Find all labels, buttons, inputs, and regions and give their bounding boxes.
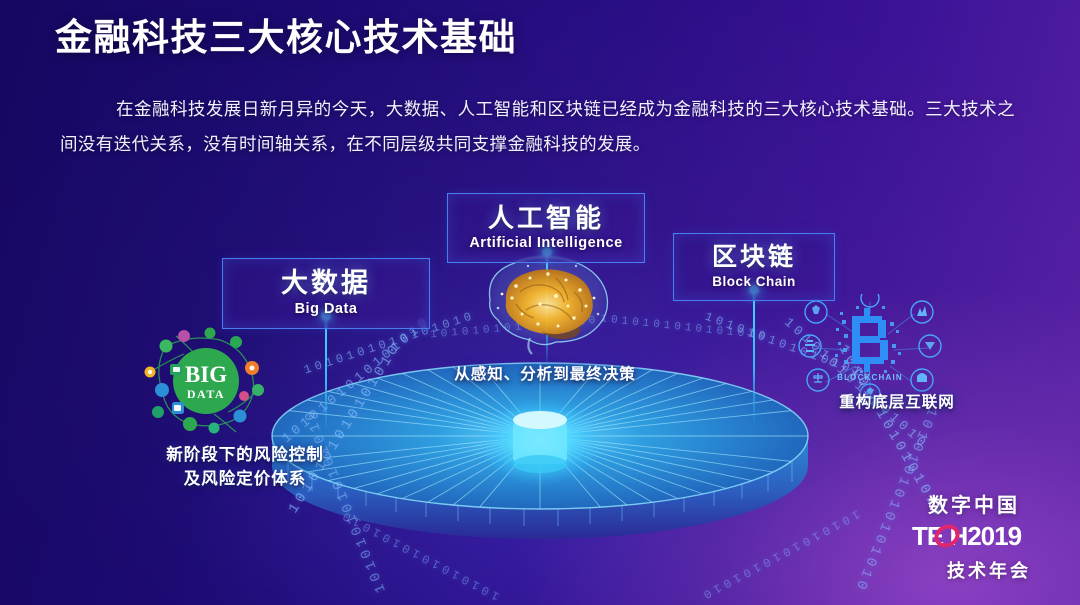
pillar-ai-cn: 人工智能 xyxy=(468,203,624,233)
pillar-box-blockchain[interactable]: 区块链 Block Chain xyxy=(673,233,835,301)
page-title: 金融科技三大核心技术基础 xyxy=(55,17,517,60)
caption-bigdata-line1: 新阶段下的风险控制 xyxy=(100,443,390,467)
logo-line-shuzizhongguo: 数字中国 xyxy=(910,489,1038,518)
caption-ai: 从感知、分析到最终决策 xyxy=(415,364,675,387)
caption-blockchain: 重构底层互联网 xyxy=(782,392,1012,415)
pillar-box-ai[interactable]: 人工智能 Artificial Intelligence xyxy=(447,193,645,263)
svg-text:TE H2019: TE H2019 xyxy=(912,521,1022,551)
pillar-bigdata-en: Big Data xyxy=(243,301,409,317)
caption-bigdata: 新阶段下的风险控制 及风险定价体系 xyxy=(100,443,390,492)
caption-bigdata-line2: 及风险定价体系 xyxy=(100,467,390,491)
connector-bigdata xyxy=(325,316,327,428)
pillar-blockchain-cn: 区块链 xyxy=(694,243,814,272)
logo-line-jishunianhui: 技术年会 xyxy=(940,557,1038,583)
connector-blockchain xyxy=(753,290,755,422)
big-data-icon-sub-text: DATA xyxy=(187,387,225,401)
logo-wordmark-tech2019: TE H2019 xyxy=(910,521,1038,556)
pillar-blockchain-en: Block Chain xyxy=(694,274,814,289)
big-data-icon-main-text: BIG xyxy=(185,362,227,387)
pillar-bigdata-cn: 大数据 xyxy=(243,268,409,299)
blockchain-b-icon: BLOCKCHAIN xyxy=(794,294,946,404)
pillar-ai-en: Artificial Intelligence xyxy=(468,235,624,251)
big-data-network-icon: BIG DATA xyxy=(136,324,276,444)
event-logo: 数字中国 TE H2019 技术年会 xyxy=(910,489,1038,583)
glowing-brain-icon xyxy=(468,248,626,360)
slide-canvas: 1010101010101010 1010101010101010 101010… xyxy=(0,0,1080,605)
blockchain-icon-sub-text: BLOCKCHAIN xyxy=(837,373,903,382)
intro-paragraph: 在金融科技发展日新月异的今天，大数据、人工智能和区块链已经成为金融科技的三大核心… xyxy=(60,92,1015,162)
pillar-box-bigdata[interactable]: 大数据 Big Data xyxy=(222,258,430,329)
